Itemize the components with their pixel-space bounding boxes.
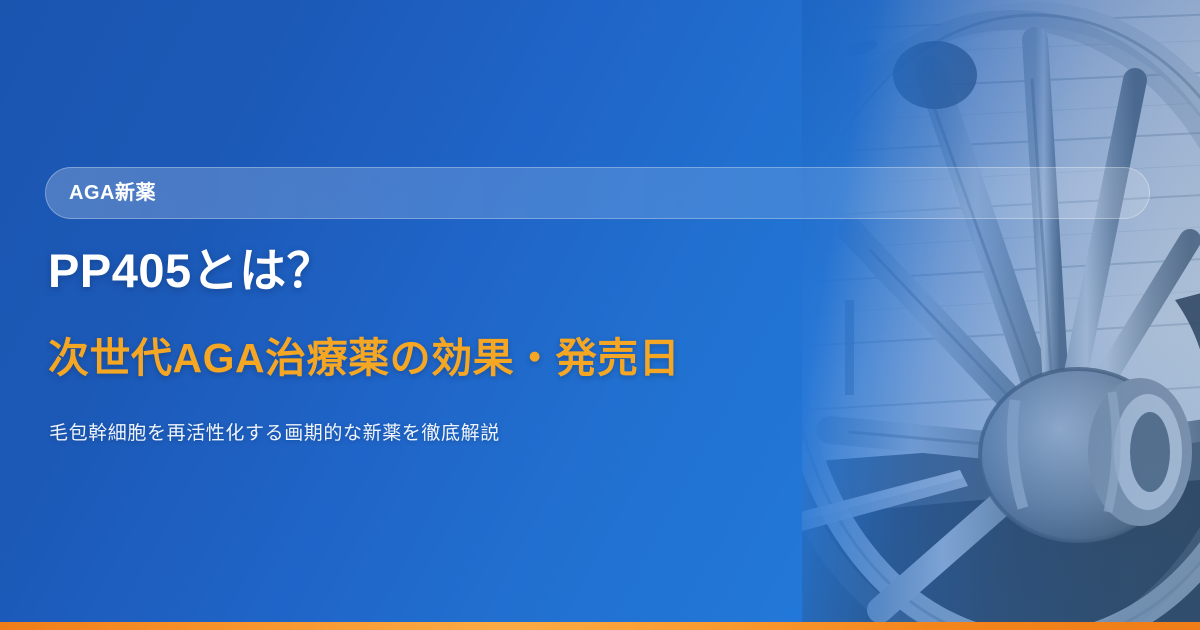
category-badge-label: AGA新薬 [46, 183, 156, 203]
page-title: PP405とは？ [48, 243, 334, 298]
page-subtitle: 次世代AGA治療薬の効果・発売日 [48, 334, 680, 383]
hero-content: AGA新薬 PP405とは？ 次世代AGA治療薬の効果・発売日 毛包幹細胞を再活… [0, 0, 1200, 630]
category-badge: AGA新薬 [45, 167, 1150, 219]
bottom-accent-bar [0, 622, 1200, 630]
blog-hero-banner: AGA新薬 PP405とは？ 次世代AGA治療薬の効果・発売日 毛包幹細胞を再活… [0, 0, 1200, 630]
page-description: 毛包幹細胞を再活性化する画期的な新薬を徹底解説 [49, 421, 500, 448]
